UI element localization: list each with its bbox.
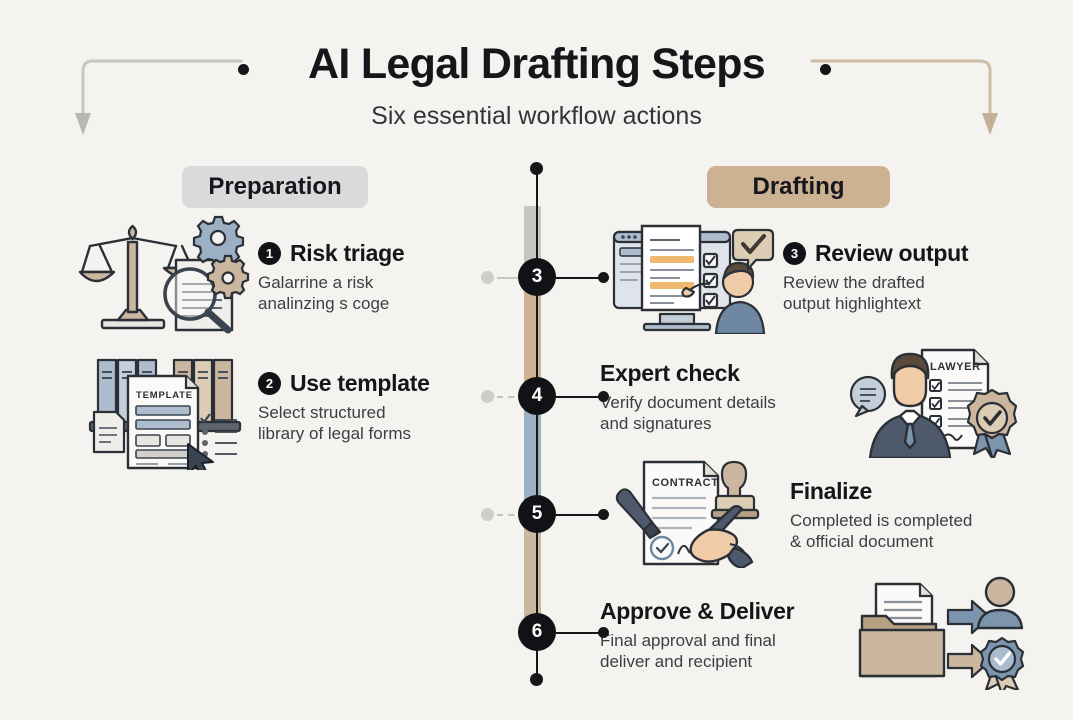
svg-text:LAWYER: LAWYER — [930, 361, 981, 373]
timeline-node-3[interactable]: 3 — [518, 258, 556, 296]
step-5-description: Completed is completed & official docume… — [790, 510, 1010, 552]
step-6-desc-line1: Final approval and final — [600, 630, 828, 651]
step-1-desc-line2: analinzing s coge — [258, 293, 473, 314]
step-4-desc-line2: and signatures — [600, 413, 828, 434]
timeline-node-3-label: 3 — [532, 266, 543, 288]
step-4: Expert check Verify document details and… — [600, 360, 828, 434]
step-6-description: Final approval and final deliver and rec… — [600, 630, 828, 672]
lawyer-certificate-seal-icon: LAWYER — [848, 342, 1020, 458]
scales-of-justice-magnifier-gears-icon — [78, 212, 250, 334]
step-6-title: Approve & Deliver — [600, 598, 794, 625]
step-4-title: Expert check — [600, 360, 740, 387]
step-6: Approve & Deliver Final approval and fin… — [600, 598, 828, 672]
section-label-drafting: Drafting — [753, 173, 845, 201]
section-badge-preparation: Preparation — [182, 166, 368, 208]
step-5-desc-line1: Completed is completed — [790, 510, 1010, 531]
step-2-title: Use template — [290, 370, 430, 397]
timeline-node-4[interactable]: 4 — [518, 377, 556, 415]
timeline-cap-bottom-icon — [530, 673, 543, 686]
step-1-head: 1 Risk triage — [258, 240, 473, 267]
step-3-description: Review the drafted output highlightext — [783, 272, 998, 314]
timeline-left-dot-3-icon — [481, 271, 494, 284]
section-badge-drafting: Drafting — [707, 166, 890, 208]
step-5-desc-line2: & official document — [790, 531, 1010, 552]
step-6-desc-line2: deliver and recipient — [600, 651, 828, 672]
elbow-arrow-down-right-icon — [808, 55, 998, 145]
step-1-desc-line1: Galarrine a risk — [258, 272, 473, 293]
timeline-spine — [536, 168, 538, 680]
step-2-desc-line2: library of legal forms — [258, 423, 488, 444]
timeline-right-dot-6-icon — [598, 627, 609, 638]
step-3-desc-line2: output highlightext — [783, 293, 998, 314]
step-3: 3 Review output Review the drafted outpu… — [783, 240, 998, 314]
timeline-right-dot-5-icon — [598, 509, 609, 520]
svg-text:TEMPLATE: TEMPLATE — [136, 390, 193, 401]
header: AI Legal Drafting Steps Six essential wo… — [0, 0, 1073, 150]
step-1-number: 1 — [258, 242, 281, 265]
section-label-preparation: Preparation — [208, 173, 341, 201]
step-1-title: Risk triage — [290, 240, 404, 267]
step-4-head: Expert check — [600, 360, 828, 387]
timeline-node-4-label: 4 — [532, 385, 543, 407]
timeline-right-dot-4-icon — [598, 391, 609, 402]
timeline-node-6-label: 6 — [532, 621, 543, 643]
timeline-cap-top-icon — [530, 162, 543, 175]
step-3-number: 3 — [783, 242, 806, 265]
step-3-title: Review output — [815, 240, 968, 267]
step-5-title: Finalize — [790, 478, 872, 505]
step-2: 2 Use template Select structured library… — [258, 370, 488, 444]
timeline-right-connector-5 — [556, 514, 602, 516]
step-5-head: Finalize — [790, 478, 1010, 505]
timeline-node-5[interactable]: 5 — [518, 495, 556, 533]
timeline-left-dot-4-icon — [481, 390, 494, 403]
step-2-number: 2 — [258, 372, 281, 395]
svg-text:CONTRACT: CONTRACT — [652, 477, 719, 489]
folder-deliver-person-seal-icon — [850, 572, 1026, 690]
step-2-desc-line1: Select structured — [258, 402, 488, 423]
step-2-description: Select structured library of legal forms — [258, 402, 488, 444]
step-5: Finalize Completed is completed & offici… — [790, 478, 1010, 552]
step-4-description: Verify document details and signatures — [600, 392, 828, 434]
timeline-right-connector-4 — [556, 396, 602, 398]
infographic-canvas: AI Legal Drafting Steps Six essential wo… — [0, 0, 1073, 720]
timeline-node-6[interactable]: 6 — [518, 613, 556, 651]
monitor-review-person-checkmark-icon — [604, 218, 776, 334]
step-3-desc-line1: Review the drafted — [783, 272, 998, 293]
template-document-binders-icon: TEMPLATE — [80, 348, 250, 470]
step-6-head: Approve & Deliver — [600, 598, 828, 625]
step-2-head: 2 Use template — [258, 370, 488, 397]
contract-signing-stamp-pen-icon: CONTRACT — [604, 452, 782, 568]
timeline-node-5-label: 5 — [532, 503, 543, 525]
step-4-desc-line1: Verify document details — [600, 392, 828, 413]
timeline-right-connector-6 — [556, 632, 602, 634]
step-1-description: Galarrine a risk analinzing s coge — [258, 272, 473, 314]
step-3-head: 3 Review output — [783, 240, 998, 267]
timeline-right-connector-3 — [556, 277, 602, 279]
step-1: 1 Risk triage Galarrine a risk analinzin… — [258, 240, 473, 314]
timeline-left-dot-5-icon — [481, 508, 494, 521]
timeline-right-dot-3-icon — [598, 272, 609, 283]
